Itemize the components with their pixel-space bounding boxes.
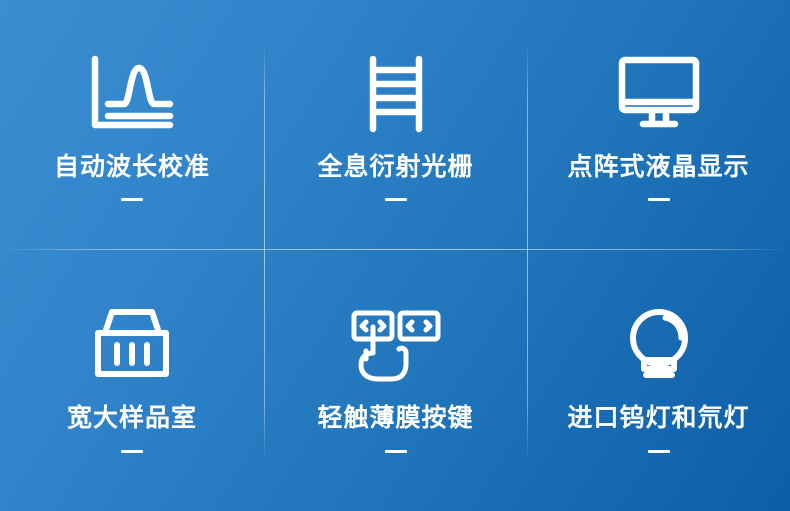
- feature-cell-auto-wavelength-calibration[interactable]: 自动波长校准: [0, 0, 264, 249]
- sample-box-icon: [89, 307, 175, 379]
- feature-underline-rule: [648, 198, 670, 201]
- feature-panel: 自动波长校准 全息衍射光栅: [0, 0, 790, 511]
- feature-cell-membrane-touch-keys[interactable]: 轻触薄膜按键: [264, 249, 527, 511]
- grating-ladder-icon: [360, 54, 432, 132]
- feature-underline-rule: [385, 198, 407, 201]
- feature-underline-rule: [121, 198, 143, 201]
- feature-title: 宽大样品室: [67, 405, 197, 433]
- feature-underline-rule: [121, 450, 143, 453]
- monitor-icon: [615, 54, 703, 132]
- hand-touch-keypad-icon: [348, 307, 444, 379]
- feature-cell-spacious-sample-chamber[interactable]: 宽大样品室: [0, 249, 264, 511]
- feature-underline-rule: [385, 450, 407, 453]
- spectrum-peak-chart-icon: [86, 54, 178, 132]
- feature-title: 进口钨灯和氘灯: [567, 405, 749, 433]
- feature-grid: 自动波长校准 全息衍射光栅: [0, 0, 790, 511]
- feature-cell-imported-tungsten-deuterium-lamps[interactable]: 进口钨灯和氘灯: [527, 249, 790, 511]
- feature-title: 全息衍射光栅: [317, 154, 473, 182]
- feature-cell-holographic-diffraction-grating[interactable]: 全息衍射光栅: [264, 0, 527, 249]
- feature-cell-dot-matrix-lcd-display[interactable]: 点阵式液晶显示: [527, 0, 790, 249]
- feature-title: 轻触薄膜按键: [317, 405, 473, 433]
- feature-title: 点阵式液晶显示: [567, 154, 749, 182]
- feature-title: 自动波长校准: [54, 154, 210, 182]
- light-bulb-icon: [620, 307, 698, 379]
- feature-underline-rule: [648, 450, 670, 453]
